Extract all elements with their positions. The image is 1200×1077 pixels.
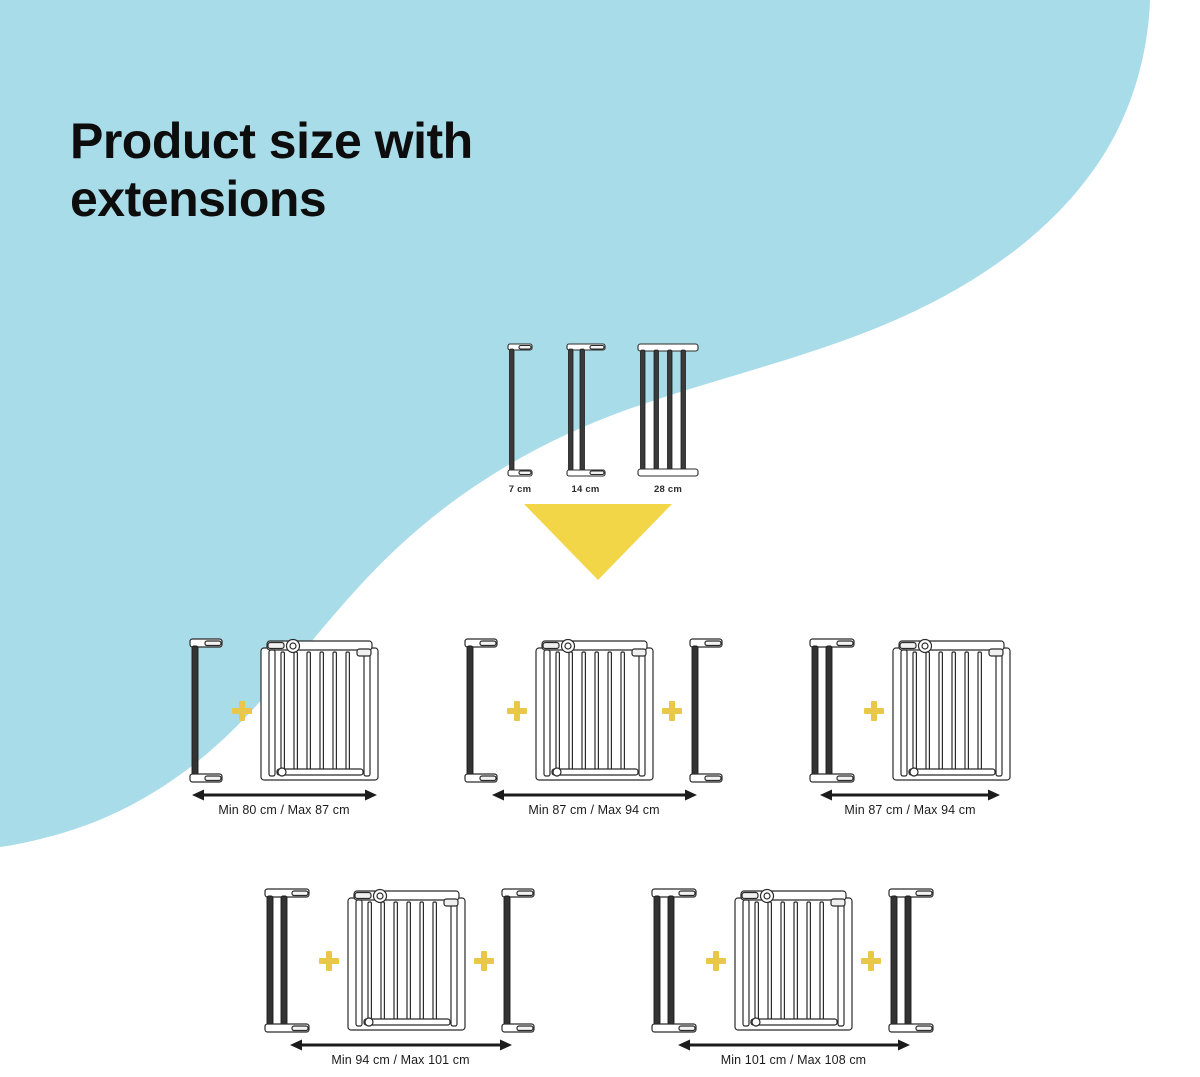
page-title-line-1: Product size with [70, 112, 690, 170]
dimension-label: Min 94 cm / Max 101 cm [331, 1053, 469, 1067]
extension-panel-icon [499, 886, 539, 1036]
page-title: Product size with extensions [70, 112, 690, 228]
extension-panel-icon [564, 340, 608, 480]
extension-label-28cm: 28 cm [654, 484, 682, 495]
double-arrow-icon [492, 788, 697, 802]
configuration-5-dimension: Min 101 cm / Max 108 cm [678, 1038, 910, 1067]
extension-panel-icon [886, 886, 938, 1036]
extension-panel-icon [687, 636, 727, 786]
plus-icon [662, 701, 682, 721]
configuration-2: Min 87 cm / Max 94 cm [462, 636, 727, 817]
configuration-1-dimension: Min 80 cm / Max 87 cm [192, 788, 377, 817]
plus-icon [474, 951, 494, 971]
extension-label-7cm: 7 cm [509, 484, 531, 495]
dimension-label: Min 87 cm / Max 94 cm [844, 803, 975, 817]
extension-piece-7cm: 7 cm [505, 340, 535, 495]
configuration-2-dimension: Min 87 cm / Max 94 cm [492, 788, 697, 817]
configuration-2-art [462, 636, 727, 786]
dimension-label: Min 87 cm / Max 94 cm [528, 803, 659, 817]
safety-gate-icon [731, 886, 856, 1036]
extension-panel-icon [807, 636, 859, 786]
extension-panel-icon [649, 886, 701, 1036]
double-arrow-icon [290, 1038, 512, 1052]
configuration-4-dimension: Min 94 cm / Max 101 cm [290, 1038, 512, 1067]
extension-pieces-group: 7 cm 14 cm 28 cm [505, 330, 700, 495]
safety-gate-icon [532, 636, 657, 786]
plus-icon [319, 951, 339, 971]
configuration-row-2: Min 94 cm / Max 101 cm [0, 886, 1200, 1067]
plus-icon [706, 951, 726, 971]
configuration-3-art [807, 636, 1014, 786]
configuration-4: Min 94 cm / Max 101 cm [262, 886, 539, 1067]
extension-piece-14cm: 14 cm [564, 340, 608, 495]
configuration-4-art [262, 886, 539, 1036]
plus-icon [232, 701, 252, 721]
configuration-3-dimension: Min 87 cm / Max 94 cm [820, 788, 1000, 817]
safety-gate-icon [344, 886, 469, 1036]
double-arrow-icon [820, 788, 1000, 802]
extension-panel-icon [505, 340, 535, 480]
configuration-1: Min 80 cm / Max 87 cm [187, 636, 382, 817]
plus-icon [861, 951, 881, 971]
triangle-down-icon [524, 504, 672, 580]
plus-icon [864, 701, 884, 721]
configuration-5: Min 101 cm / Max 108 cm [649, 886, 938, 1067]
extension-label-14cm: 14 cm [572, 484, 600, 495]
dimension-label: Min 80 cm / Max 87 cm [218, 803, 349, 817]
double-arrow-icon [192, 788, 377, 802]
extension-panel-icon [187, 636, 227, 786]
dimension-label: Min 101 cm / Max 108 cm [721, 1053, 866, 1067]
safety-gate-icon [257, 636, 382, 786]
extension-piece-28cm: 28 cm [636, 340, 700, 495]
configuration-1-art [187, 636, 382, 786]
safety-gate-icon [889, 636, 1014, 786]
page-title-line-2: extensions [70, 170, 690, 228]
plus-icon [507, 701, 527, 721]
extension-panel-icon [462, 636, 502, 786]
configuration-5-art [649, 886, 938, 1036]
extension-panel-icon [262, 886, 314, 1036]
extension-panel-icon [636, 340, 700, 480]
configuration-row-1: Min 80 cm / Max 87 cm [0, 636, 1200, 817]
configuration-3: Min 87 cm / Max 94 cm [807, 636, 1014, 817]
double-arrow-icon [678, 1038, 910, 1052]
